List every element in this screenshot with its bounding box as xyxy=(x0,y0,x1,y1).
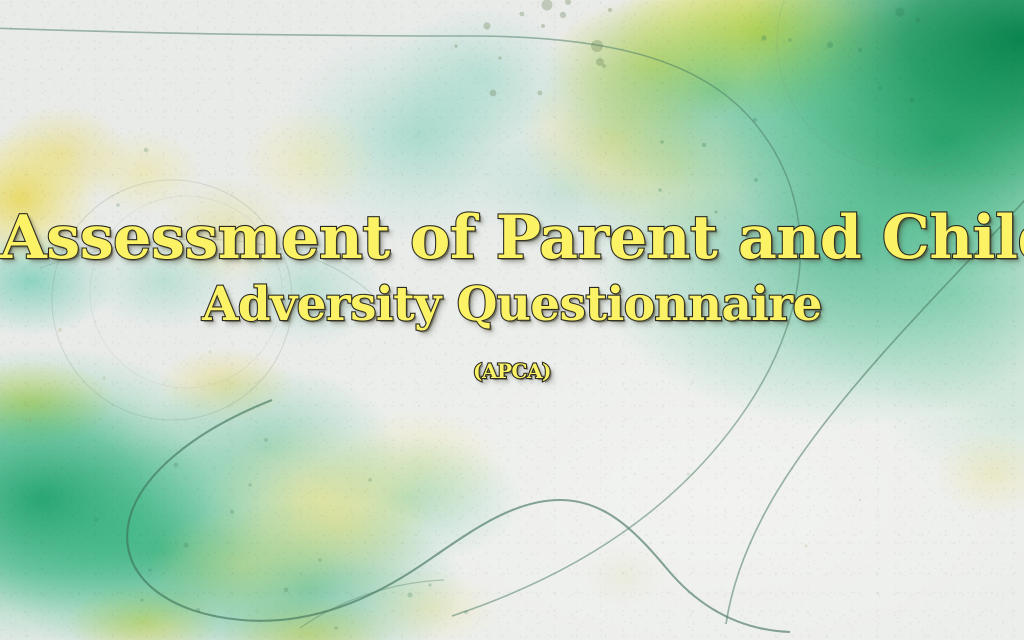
title-line-2: Adversity Questionnaire xyxy=(0,271,1024,338)
title-line-3-acronym: (APCA) xyxy=(0,338,1024,405)
title-banner: Assessment of Parent and Child Adversity… xyxy=(0,0,1024,640)
page-title: Assessment of Parent and Child Adversity… xyxy=(0,204,1024,405)
title-line-1: Assessment of Parent and Child xyxy=(0,204,1024,271)
